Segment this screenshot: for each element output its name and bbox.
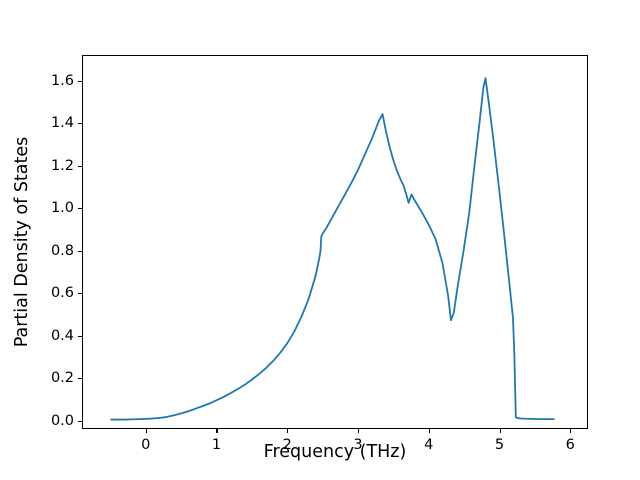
plot-svg [83,56,587,428]
y-tick-mark [78,123,82,124]
y-tick-label: 1.2 [51,158,74,174]
pdos-line-series [111,78,554,419]
x-tick-mark [570,429,571,433]
y-tick-label: 0.6 [51,285,74,301]
y-tick-label: 1.0 [51,200,74,216]
y-tick-mark [78,378,82,379]
y-tick-label: 0.4 [51,328,74,344]
x-tick-mark [358,429,359,433]
y-axis-label: Partial Density of States [12,137,32,348]
y-tick-mark [78,208,82,209]
y-tick-label: 1.6 [51,73,74,89]
y-tick-label: 0.0 [51,413,74,429]
y-tick-mark [78,336,82,337]
figure-canvas: 0.00.20.40.60.81.01.21.41.6 0123456 Freq… [0,0,640,480]
y-tick-mark [78,421,82,422]
plot-axes [82,55,588,429]
y-tick-label: 1.4 [51,115,74,131]
y-tick-mark [78,166,82,167]
x-tick-mark [216,429,217,433]
x-axis-label: Frequency (THz) [82,442,588,462]
x-tick-mark [287,429,288,433]
y-tick-label: 0.2 [51,370,74,386]
x-tick-mark [429,429,430,433]
x-tick-mark [146,429,147,433]
y-tick-mark [78,251,82,252]
y-tick-mark [78,293,82,294]
x-tick-mark [500,429,501,433]
y-tick-mark [78,81,82,82]
y-tick-label: 0.8 [51,243,74,259]
